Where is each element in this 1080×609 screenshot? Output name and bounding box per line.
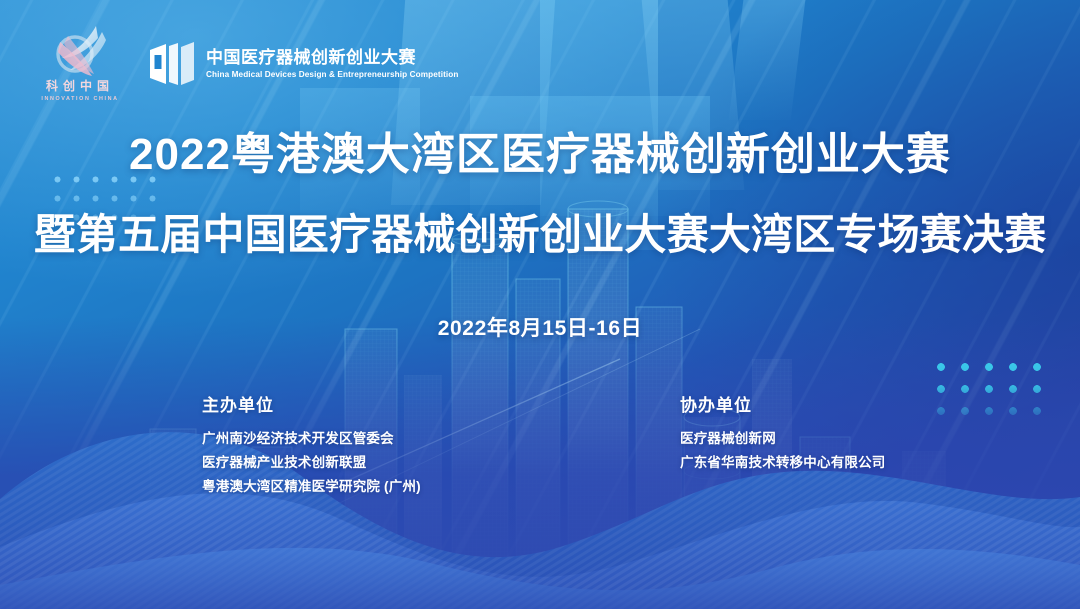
host-organizer-block: 主办单位 广州南沙经济技术开发区管委会 医疗器械产业技术创新联盟 粤港澳大湾区精…: [202, 391, 421, 499]
poster-title-line-2: 暨第五届中国医疗器械创新创业大赛大湾区专场赛决赛: [0, 213, 1080, 257]
logo-innovation-china: 科创中国 INNOVATION CHINA: [34, 24, 126, 104]
poster-title-line-1: 2022粤港澳大湾区医疗器械创新创业大赛: [0, 132, 1080, 178]
co-organizer-item: 医疗器械创新网: [680, 427, 886, 451]
co-organizer-heading: 协办单位: [680, 391, 886, 416]
competition-mark-icon: [148, 41, 196, 87]
logo-row: 科创中国 INNOVATION CHINA 中国医疗器械创新创业大赛 China…: [34, 24, 458, 104]
host-organizer-item: 医疗器械产业技术创新联盟: [202, 451, 421, 475]
innovation-china-mark-icon: [44, 24, 116, 80]
host-organizer-item: 粤港澳大湾区精准医学研究院 (广州): [202, 475, 421, 499]
innovation-china-name-cn: 科创中国: [34, 80, 126, 92]
competition-name-cn: 中国医疗器械创新创业大赛: [206, 49, 458, 68]
host-organizer-heading: 主办单位: [202, 391, 421, 416]
event-date: 2022年8月15日-16日: [0, 312, 1080, 342]
innovation-china-name-en: INNOVATION CHINA: [34, 97, 126, 102]
logo-china-medical-devices: 中国医疗器械创新创业大赛 China Medical Devices Desig…: [148, 41, 458, 87]
competition-name-en: China Medical Devices Design & Entrepren…: [206, 70, 458, 79]
co-organizer-block: 协办单位 医疗器械创新网 广东省华南技术转移中心有限公司: [680, 391, 886, 475]
host-organizer-item: 广州南沙经济技术开发区管委会: [202, 427, 421, 451]
dot-grid-right: [925, 352, 1047, 426]
event-poster: 科创中国 INNOVATION CHINA 中国医疗器械创新创业大赛 China…: [0, 0, 1080, 609]
competition-logo-text: 中国医疗器械创新创业大赛 China Medical Devices Desig…: [206, 49, 458, 79]
co-organizer-item: 广东省华南技术转移中心有限公司: [680, 451, 886, 475]
wave-hills-graphic: [0, 379, 1080, 609]
background-light-panel: [729, 0, 806, 120]
